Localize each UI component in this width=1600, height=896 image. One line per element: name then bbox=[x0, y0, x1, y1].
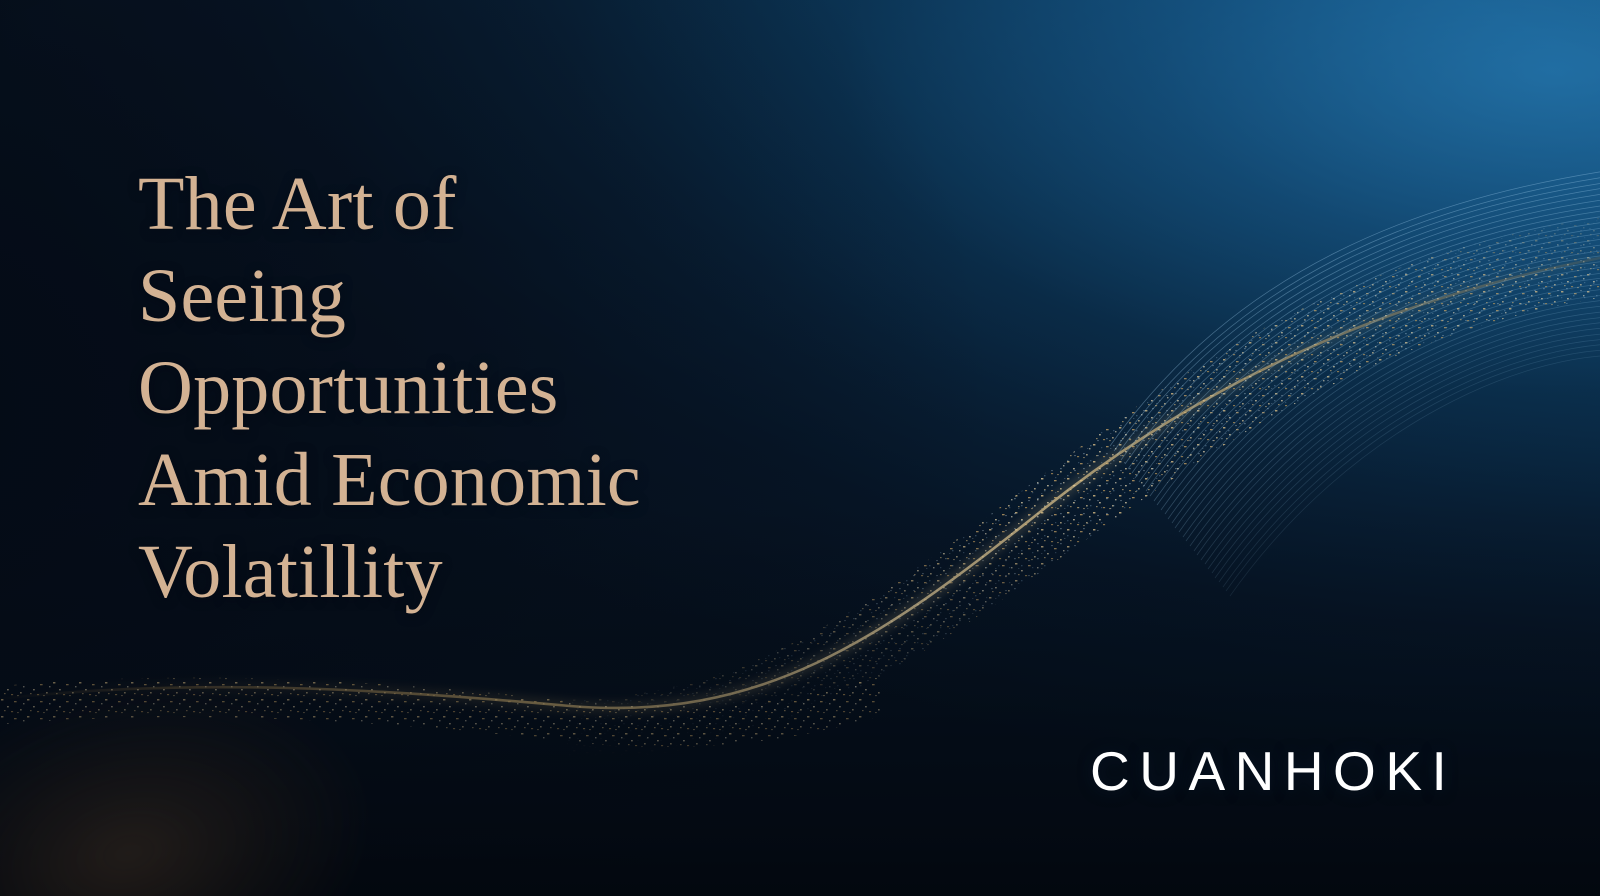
title-line-3: Opportunities bbox=[138, 342, 758, 434]
brand-logo: CUANHOKI bbox=[1090, 740, 1456, 802]
poster-canvas: The Art of Seeing Opportunities Amid Eco… bbox=[0, 0, 1600, 896]
title-line-2: Seeing bbox=[138, 250, 758, 342]
title-line-4: Amid Economic bbox=[138, 434, 758, 526]
title-line-5: Volatillity bbox=[138, 526, 758, 618]
title-line-1: The Art of bbox=[138, 158, 758, 250]
page-title: The Art of Seeing Opportunities Amid Eco… bbox=[138, 158, 758, 618]
